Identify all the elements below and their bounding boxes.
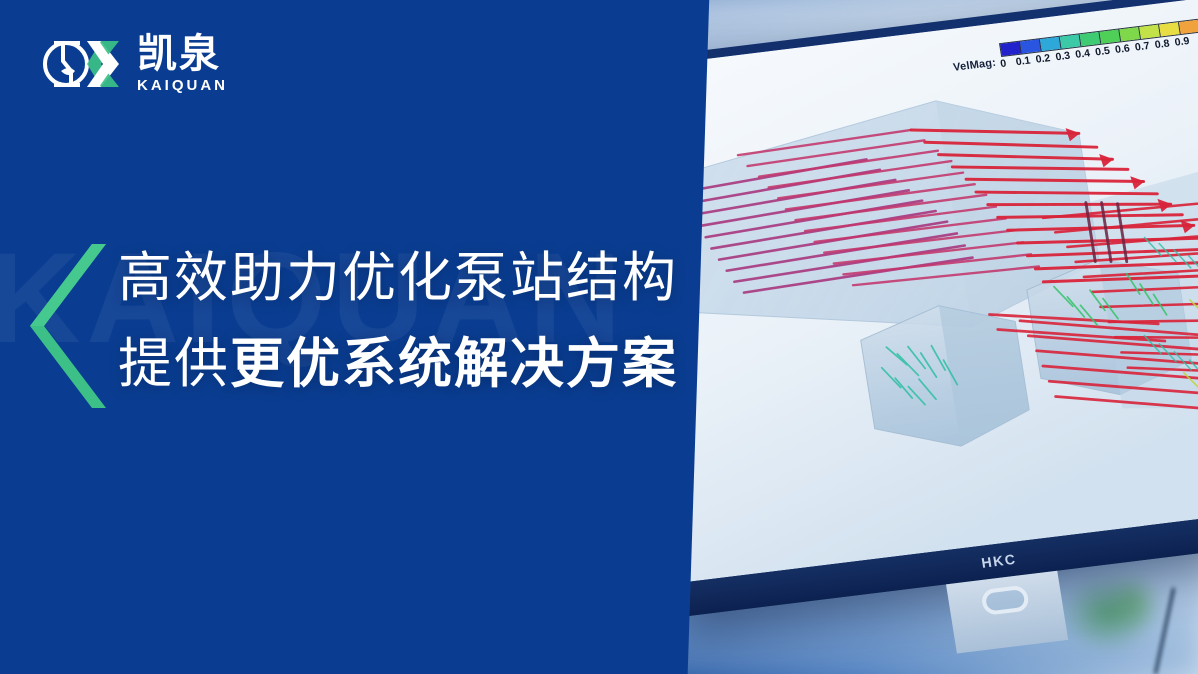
colorbar-cell xyxy=(1060,34,1082,48)
colorbar-cell xyxy=(1119,27,1141,41)
brand-logo-en: KAIQUAN xyxy=(137,78,228,93)
colorbar-cell xyxy=(1020,39,1042,53)
brand-logo-text: 凯泉 KAIQUAN xyxy=(137,35,228,93)
colorbar-tick-label: 0.3 xyxy=(1055,50,1071,64)
colorbar-tick-label: 0.5 xyxy=(1094,45,1110,59)
headline-line-2-normal: 提供 xyxy=(118,332,230,395)
colorbar-tick-label: 0.7 xyxy=(1134,40,1150,54)
headline: 高效助力优化泵站结构 提供更优系统解决方案 xyxy=(118,243,678,399)
chevron-left-icon xyxy=(22,244,106,408)
colorbar-cell xyxy=(1099,29,1121,43)
colorbar-label: VelMag: xyxy=(952,57,997,74)
colorbar-cell xyxy=(1179,20,1198,34)
headline-line-2: 提供更优系统解决方案 xyxy=(118,329,678,399)
colorbar-tick-label: 0.1 xyxy=(1015,55,1031,69)
brand-logo-cn: 凯泉 xyxy=(137,35,221,74)
monitor-brand-label: HKC xyxy=(980,551,1017,571)
promo-banner: VelMag: 00.10.20.30.40.50.60.70.80.91 HK… xyxy=(0,0,1198,674)
colorbar-tick-label: 0.2 xyxy=(1035,52,1051,66)
colorbar-cell xyxy=(1000,42,1022,56)
colorbar-tick-label: 0.8 xyxy=(1154,37,1170,51)
brand-logo[interactable]: 凯泉 KAIQUAN xyxy=(41,33,228,95)
headline-line-1: 高效助力优化泵站结构 xyxy=(118,243,678,313)
colorbar-tick-label: 0 xyxy=(999,58,1007,71)
colorbar-tick-label: 0.9 xyxy=(1174,35,1190,49)
colorbar-cell xyxy=(1040,37,1062,51)
colorbar-cell xyxy=(1080,32,1102,46)
colorbar-cell xyxy=(1139,25,1161,39)
headline-line-2-bold: 更优系统解决方案 xyxy=(230,332,678,395)
kaiquan-q-x-mark xyxy=(41,33,123,95)
colorbar-cell xyxy=(1159,22,1181,36)
colorbar-tick-label: 0.4 xyxy=(1075,47,1091,61)
colorbar-tick-label: 0.6 xyxy=(1114,42,1130,56)
